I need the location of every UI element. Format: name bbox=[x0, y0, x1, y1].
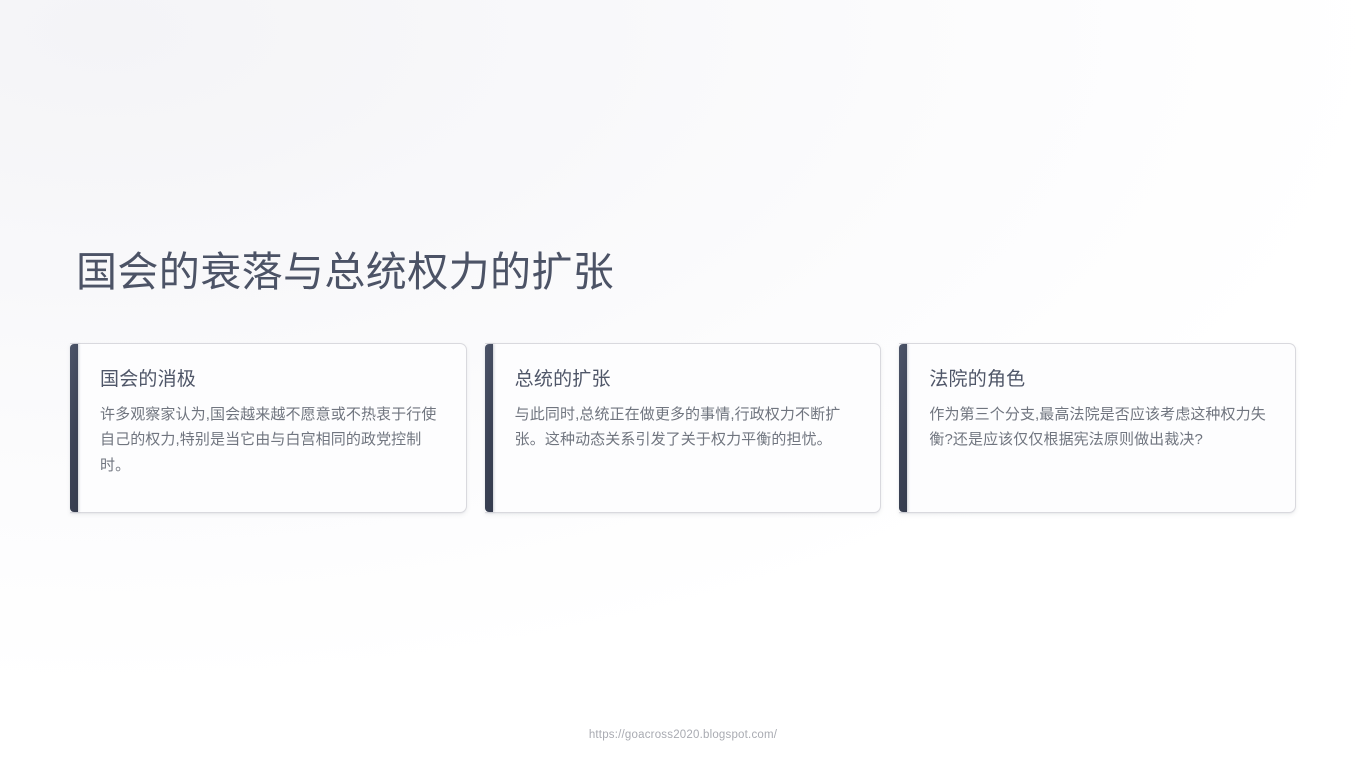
info-card-1: 国会的消极 许多观察家认为,国会越来越不愿意或不热衷于行使自己的权力,特别是当它… bbox=[70, 343, 467, 513]
page-title: 国会的衰落与总统权力的扩张 bbox=[76, 247, 614, 297]
card-accent-bar bbox=[70, 344, 78, 512]
info-card-2: 总统的扩张 与此同时,总统正在做更多的事情,行政权力不断扩张。这种动态关系引发了… bbox=[485, 343, 882, 513]
card-title: 法院的角色 bbox=[929, 368, 1269, 393]
card-title: 总统的扩张 bbox=[515, 368, 855, 393]
slide-canvas: 国会的衰落与总统权力的扩张 国会的消极 许多观察家认为,国会越来越不愿意或不热衷… bbox=[0, 0, 1366, 768]
footer-source-url: https://goacross2020.blogspot.com/ bbox=[0, 729, 1366, 741]
card-accent-bar bbox=[485, 344, 493, 512]
card-body-text: 作为第三个分支,最高法院是否应该考虑这种权力失衡?还是应该仅仅根据宪法原则做出裁… bbox=[929, 402, 1269, 454]
card-body-text: 许多观察家认为,国会越来越不愿意或不热衷于行使自己的权力,特别是当它由与白宫相同… bbox=[100, 402, 440, 479]
info-card-3: 法院的角色 作为第三个分支,最高法院是否应该考虑这种权力失衡?还是应该仅仅根据宪… bbox=[899, 343, 1296, 513]
card-title: 国会的消极 bbox=[100, 368, 440, 393]
card-row: 国会的消极 许多观察家认为,国会越来越不愿意或不热衷于行使自己的权力,特别是当它… bbox=[70, 343, 1296, 513]
card-accent-bar bbox=[899, 344, 907, 512]
card-body-text: 与此同时,总统正在做更多的事情,行政权力不断扩张。这种动态关系引发了关于权力平衡… bbox=[515, 402, 855, 454]
